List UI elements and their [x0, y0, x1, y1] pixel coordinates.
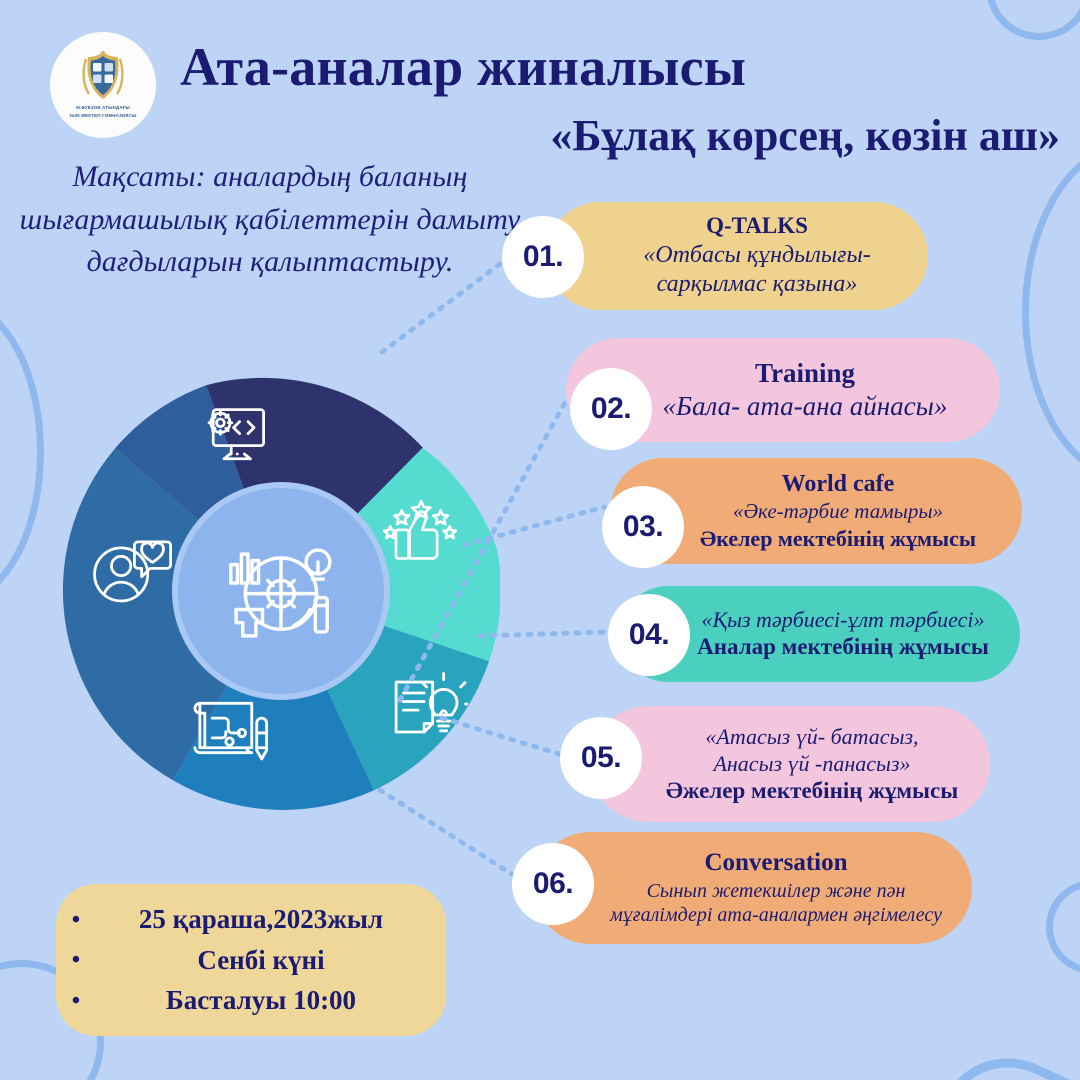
step-01-line-2: «Отбасы құндылығы-: [612, 241, 902, 271]
connector-04: [480, 632, 608, 636]
step-02-line-1: Training: [632, 357, 978, 390]
step-number-02[interactable]: 02.: [570, 368, 652, 450]
step-05-line-2: Анасыз үй -панасыз»: [652, 750, 972, 777]
step-03-line-1: World cafe: [674, 470, 1002, 500]
step-number-03[interactable]: 03.: [602, 486, 684, 568]
connector-05: [442, 718, 572, 758]
schedule-day: Сенбі күні: [96, 940, 446, 981]
connector-06: [380, 790, 524, 882]
step-06-line-2: Сынып жетекшілер және пән: [596, 879, 956, 904]
step-05-line-1: «Атасыз үй- батасыз,: [652, 723, 972, 750]
schedule-row: • Басталуы 10:00: [56, 980, 446, 1021]
bullet-icon: •: [56, 902, 96, 938]
step-03-line-3: Әкелер мектебінің жұмысы: [674, 525, 1002, 552]
connector-03: [465, 507, 604, 545]
step-06-line-1: Conversation: [596, 848, 956, 879]
step-06-line-3: мұғалімдері ата-аналармен әңгімелесу: [596, 903, 956, 928]
step-05-line-3: Әжелер мектебінің жұмысы: [652, 777, 972, 805]
bullet-icon: •: [56, 942, 96, 978]
connector-02: [400, 390, 572, 700]
step-card-05[interactable]: «Атасыз үй- батасыз, Анасыз үй -панасыз»…: [590, 706, 990, 822]
step-number-05[interactable]: 05.: [560, 717, 642, 799]
schedule-box: • 25 қараша,2023жыл • Сенбі күні • Баста…: [56, 884, 446, 1036]
schedule-row: • 25 қараша,2023жыл: [56, 899, 446, 940]
step-01-line-1: Q-TALKS: [612, 212, 902, 240]
step-03-line-2: «Әке-тәрбие тамыры»: [674, 499, 1002, 525]
step-card-06[interactable]: Conversation Сынып жетекшілер және пән м…: [534, 832, 972, 944]
step-number-01[interactable]: 01.: [502, 216, 584, 298]
step-number-06[interactable]: 06.: [512, 843, 594, 925]
step-04-line-2: Аналар мектебінің жұмысы: [682, 633, 1004, 661]
step-02-line-2: «Бала- ата-ана айнасы»: [632, 390, 978, 423]
step-04-line-1: «Қыз тәрбиесі-ұлт тәрбиесі»: [682, 606, 1004, 633]
schedule-time: Басталуы 10:00: [96, 980, 446, 1021]
bullet-icon: •: [56, 983, 96, 1019]
schedule-date: 25 қараша,2023жыл: [96, 899, 446, 940]
schedule-row: • Сенбі күні: [56, 940, 446, 981]
connector-01: [382, 252, 516, 352]
step-card-01[interactable]: Q-TALKS «Отбасы құндылығы- сарқылмас қаз…: [546, 202, 928, 310]
step-01-line-3: сарқылмас қазына»: [612, 270, 902, 300]
step-number-04[interactable]: 04.: [608, 594, 690, 676]
poster-canvas: М.ӘУЕЗОВ АТЫНДАҒЫ №06 МЕКТЕП-ГИМНАЗИЯСЫ …: [0, 0, 1080, 1080]
